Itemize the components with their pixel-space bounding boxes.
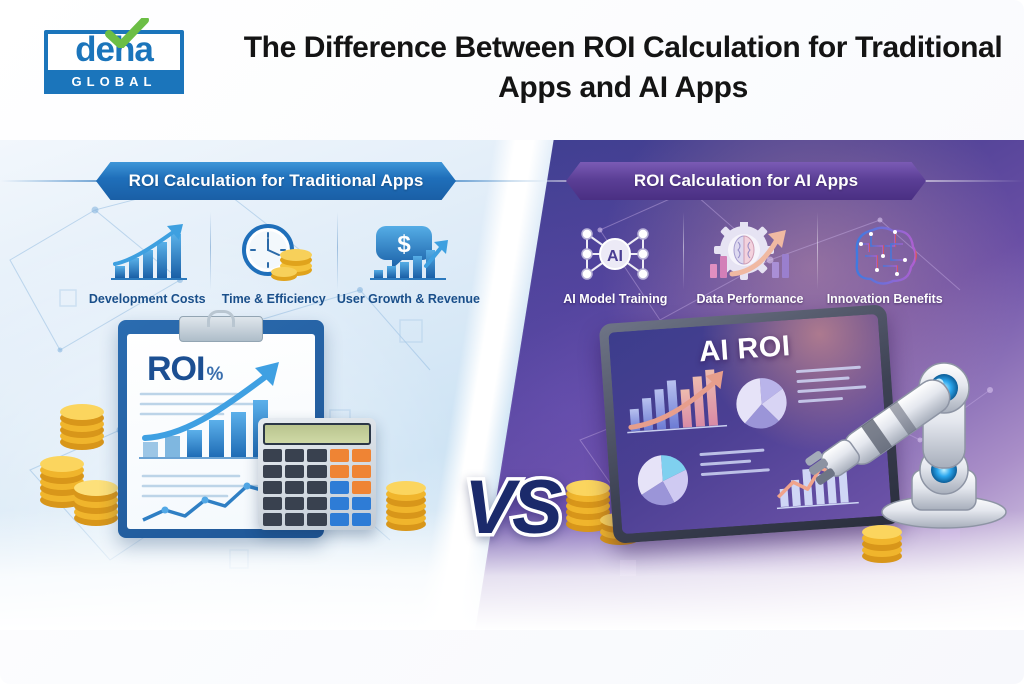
- banner-right-tick-start: [466, 180, 570, 182]
- coin-stack-left-secondary: [372, 442, 442, 538]
- calculator-display: [263, 423, 371, 445]
- checkmark-icon: [104, 18, 150, 48]
- calc-key[interactable]: [352, 481, 371, 494]
- roi-word: ROI: [147, 350, 204, 388]
- gear-brain-growth-icon: [702, 222, 798, 286]
- banner-left-tick-start: [0, 180, 100, 182]
- ai-feature-row: AI AI Model Training: [548, 206, 952, 306]
- svg-text:AI: AI: [607, 248, 623, 265]
- infographic-page: deha GLOBAL The Difference Between ROI C…: [0, 0, 1024, 684]
- calc-key[interactable]: [285, 449, 304, 462]
- svg-text:$: $: [398, 231, 412, 258]
- calculator-keypad: [263, 449, 371, 526]
- banner-right-tick-end: [922, 180, 1024, 182]
- feature-label: Data Performance: [697, 292, 804, 306]
- feature-user-growth-revenue: $ User Growth & Revenue: [337, 206, 480, 306]
- calc-key-equals[interactable]: [352, 497, 371, 510]
- feature-development-costs: Development Costs: [84, 206, 210, 306]
- ai-scene: AI ROI: [548, 310, 1024, 630]
- feature-ai-model-training: AI AI Model Training: [548, 206, 683, 306]
- feature-time-efficiency: Time & Efficiency: [210, 206, 336, 306]
- feature-label: Innovation Benefits: [827, 292, 943, 306]
- logo-sub-bar: GLOBAL: [44, 70, 184, 94]
- vs-badge: VS: [447, 465, 577, 551]
- page-title: The Difference Between ROI Calculation f…: [228, 28, 1018, 107]
- feature-label: AI Model Training: [563, 292, 667, 306]
- calc-key[interactable]: [307, 449, 326, 462]
- traditional-scene: ROI%: [0, 310, 470, 630]
- calc-key[interactable]: [330, 465, 349, 478]
- calc-key[interactable]: [352, 449, 371, 462]
- brand-logo: deha GLOBAL: [44, 18, 184, 94]
- calc-key[interactable]: [285, 465, 304, 478]
- calc-key[interactable]: [285, 497, 304, 510]
- banner-ai-apps: ROI Calculation for AI Apps: [566, 162, 926, 200]
- calc-key[interactable]: [263, 513, 282, 526]
- logo-sub-text: GLOBAL: [44, 70, 184, 94]
- feature-label: Development Costs: [89, 292, 206, 306]
- calc-key-plus[interactable]: [330, 481, 349, 494]
- coin-stack-ai-right: [848, 478, 918, 568]
- calc-key[interactable]: [263, 497, 282, 510]
- feature-innovation-benefits: Innovation Benefits: [817, 206, 952, 306]
- calc-key[interactable]: [307, 497, 326, 510]
- calc-key-equals[interactable]: [352, 513, 371, 526]
- calc-key[interactable]: [285, 481, 304, 494]
- feature-label: Time & Efficiency: [222, 292, 326, 306]
- clipboard-clamp: [179, 316, 263, 342]
- calc-key[interactable]: [285, 513, 304, 526]
- clipboard-roi-label: ROI%: [147, 350, 222, 389]
- calc-key[interactable]: [263, 481, 282, 494]
- calc-key[interactable]: [352, 465, 371, 478]
- feature-data-performance: Data Performance: [683, 206, 818, 306]
- comparison-panels: ROI Calculation for Traditional Apps ROI…: [0, 140, 1024, 630]
- calc-key[interactable]: [263, 465, 282, 478]
- header: deha GLOBAL The Difference Between ROI C…: [0, 0, 1024, 140]
- calc-key[interactable]: [307, 481, 326, 494]
- calculator: [258, 418, 376, 530]
- calc-key[interactable]: [307, 465, 326, 478]
- circuit-brain-icon: [837, 222, 933, 286]
- calc-key[interactable]: [263, 449, 282, 462]
- traditional-feature-row: Development Costs: [84, 206, 480, 306]
- dollar-bubble-chart-icon: $: [360, 222, 456, 286]
- clock-coins-icon: [226, 222, 322, 286]
- calc-key-equals[interactable]: [330, 513, 349, 526]
- ai-neural-network-icon: AI: [567, 222, 663, 286]
- calc-key[interactable]: [330, 449, 349, 462]
- roi-percent-symbol: %: [206, 364, 222, 385]
- calc-key[interactable]: [307, 513, 326, 526]
- calc-key-plus[interactable]: [330, 497, 349, 510]
- banner-traditional-apps: ROI Calculation for Traditional Apps: [96, 162, 456, 200]
- feature-label: User Growth & Revenue: [337, 292, 480, 306]
- coin-stack-left: [38, 388, 130, 538]
- bar-chart-growth-icon: [99, 222, 195, 286]
